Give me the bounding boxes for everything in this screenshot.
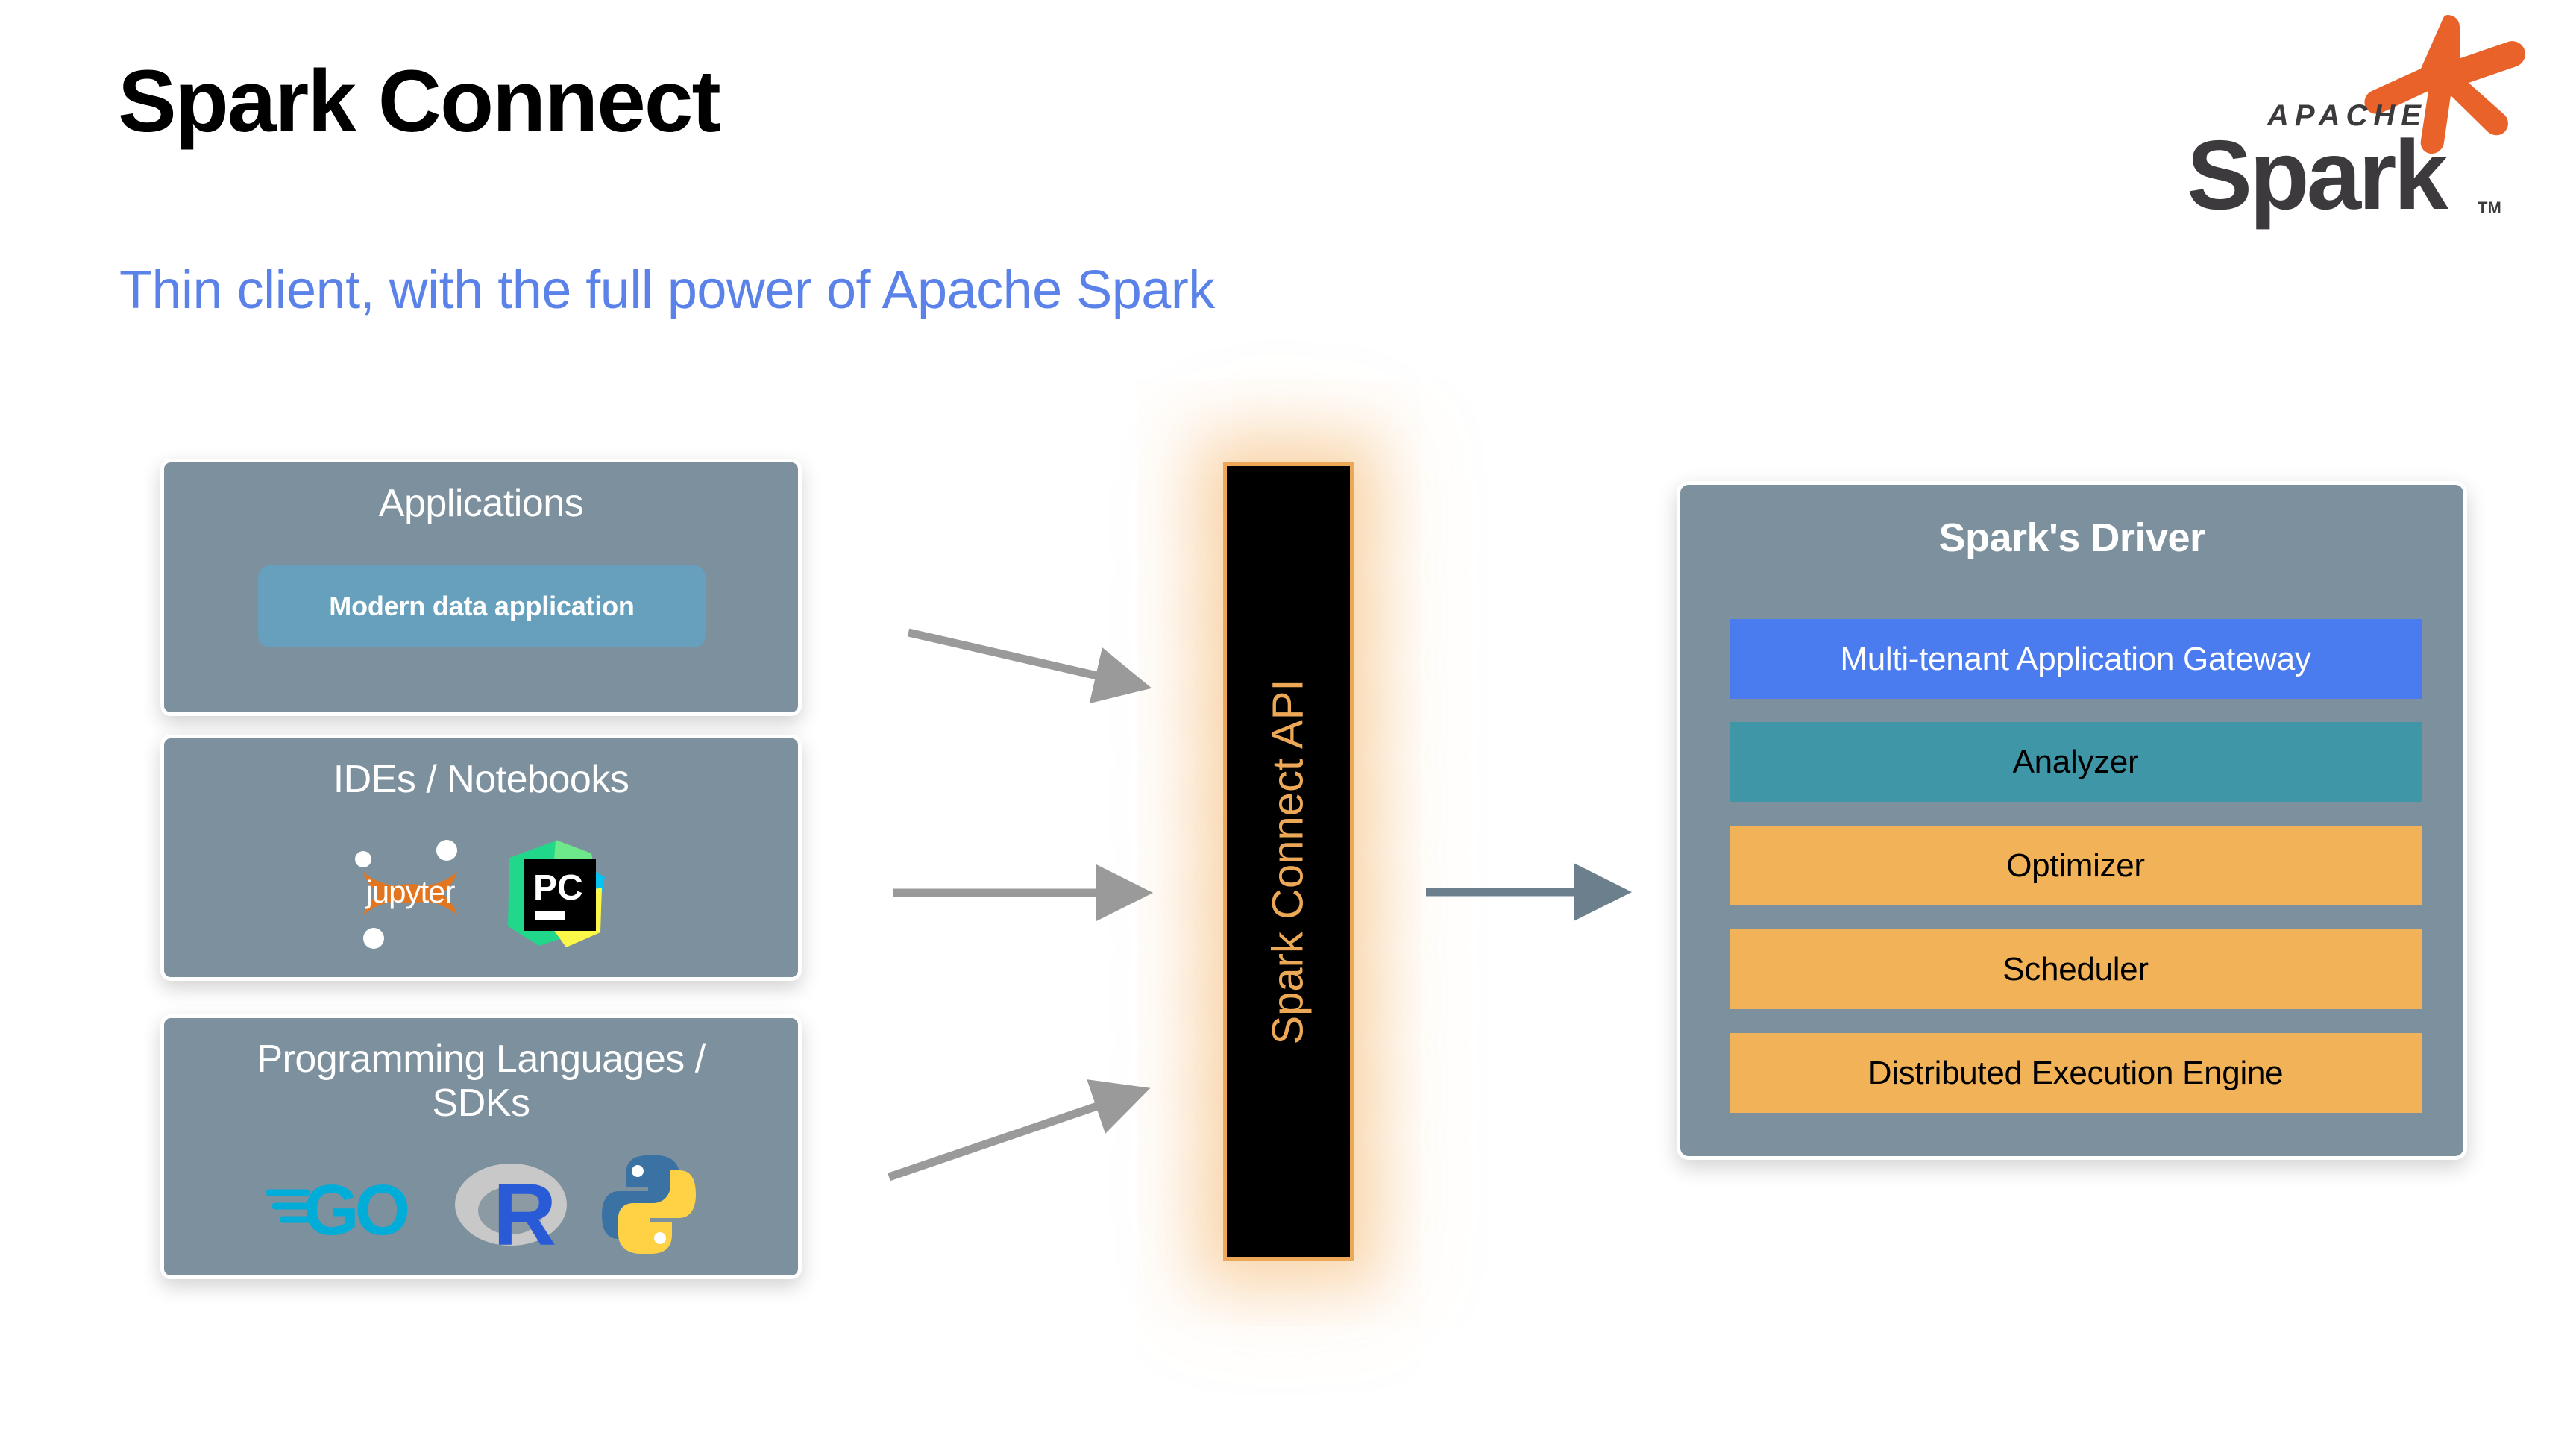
card-languages-title-line1: Programming Languages / [257,1038,705,1081]
card-applications[interactable]: Applications Modern data application [160,459,802,716]
card-applications-title: Applications [164,462,798,526]
jupyter-logo-label: jupyter [347,874,474,910]
pycharm-logo: PC [496,828,615,955]
driver-row-gateway[interactable]: Multi-tenant Application Gateway [1730,619,2422,699]
r-logo: R [451,1152,571,1257]
card-ides-title: IDEs / Notebooks [164,738,798,802]
spark-driver-title: Spark's Driver [1680,485,2463,561]
svg-text:TM: TM [2478,198,2501,217]
spark-connect-api-label: Spark Connect API [1263,679,1313,1044]
jupyter-logo: jupyter [347,828,474,955]
card-ides-notebooks[interactable]: IDEs / Notebooks jupyter PC [160,735,802,981]
driver-row-optimizer-label: Optimizer [2006,847,2145,885]
ide-logo-row: jupyter PC [164,828,798,955]
svg-text:PC: PC [533,868,583,908]
go-logo: GO [265,1160,421,1249]
python-logo [600,1152,697,1257]
driver-row-scheduler[interactable]: Scheduler [1730,929,2422,1009]
language-logo-row: GO R [164,1152,798,1257]
driver-row-execution-engine[interactable]: Distributed Execution Engine [1730,1033,2422,1113]
spark-connect-api-bar[interactable]: Spark Connect API [1223,462,1354,1261]
page-subtitle: Thin client, with the full power of Apac… [119,260,1215,321]
modern-data-application-box[interactable]: Modern data application [258,565,706,647]
card-languages-title-line2: SDKs [433,1082,530,1125]
driver-row-execution-engine-label: Distributed Execution Engine [1868,1055,2284,1092]
driver-row-analyzer[interactable]: Analyzer [1730,722,2422,802]
svg-text:R: R [493,1166,556,1257]
card-languages-title: Programming Languages / SDKs [164,1018,798,1126]
driver-row-optimizer[interactable]: Optimizer [1730,826,2422,905]
arrow-applications-to-api [908,633,1104,677]
svg-text:Spark: Spark [2187,120,2448,230]
apache-spark-logo: APACHE Spark TM [2158,13,2531,230]
arrow-languages-to-api [889,1104,1104,1177]
page-title: Spark Connect [118,56,720,148]
card-programming-languages[interactable]: Programming Languages / SDKs GO R [160,1014,802,1279]
driver-row-analyzer-label: Analyzer [2013,744,2139,781]
driver-row-scheduler-label: Scheduler [2002,951,2148,988]
spark-wordmark: Spark TM [2187,120,2501,230]
svg-text:GO: GO [304,1170,408,1249]
driver-row-gateway-label: Multi-tenant Application Gateway [1840,641,2310,678]
spark-driver-panel[interactable]: Spark's Driver Multi-tenant Application … [1677,481,2467,1160]
